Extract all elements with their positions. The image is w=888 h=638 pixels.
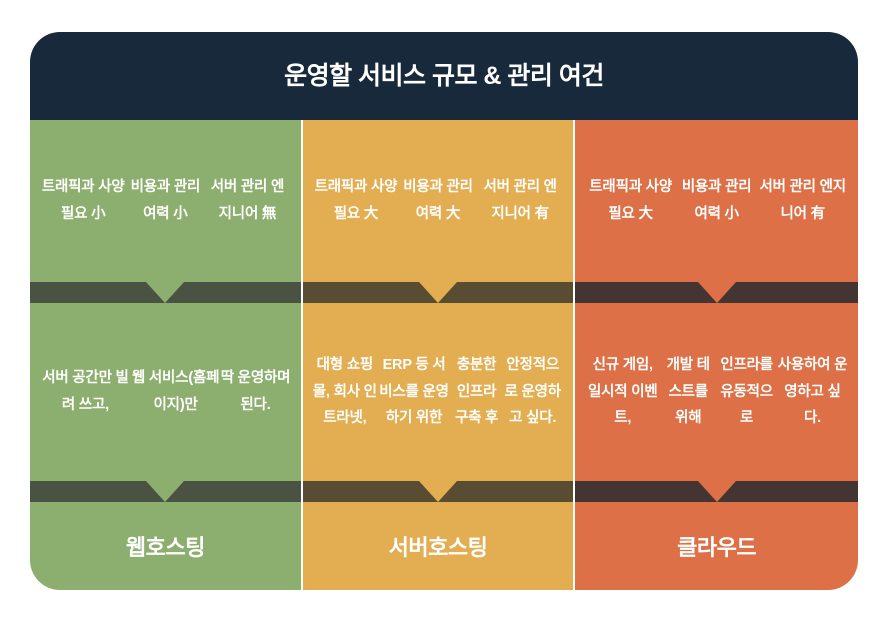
- result-label-web-hosting[interactable]: 웹호스팅: [30, 502, 301, 590]
- chevron-down-icon: [419, 481, 457, 502]
- column-web-hosting[interactable]: 트래픽과 사양 필요 小비용과 관리 여력 小서버 관리 엔지니어 無 서버 공…: [30, 120, 301, 590]
- criteria-cell-web-hosting: 트래픽과 사양 필요 小비용과 관리 여력 小서버 관리 엔지니어 無: [30, 120, 301, 282]
- criteria-cell-cloud: 트래픽과 사양 필요 大비용과 관리 여력 小서버 관리 엔지니어 有: [575, 120, 858, 282]
- arrow-band-criteria-server-hosting: [303, 282, 574, 303]
- column-cloud[interactable]: 트래픽과 사양 필요 大비용과 관리 여력 小서버 관리 엔지니어 有 신규 게…: [575, 120, 858, 590]
- column-server-hosting[interactable]: 트래픽과 사양 필요 大비용과 관리 여력 大서버 관리 엔지니어 有 대형 쇼…: [303, 120, 574, 590]
- description-cell-cloud: 신규 게임, 일시적 이벤트,개발 테스트를 위해인프라를 유동적으로사용하여 …: [575, 303, 858, 481]
- chevron-down-icon: [698, 481, 736, 502]
- arrow-band-criteria-web-hosting: [30, 282, 301, 303]
- comparison-columns: 트래픽과 사양 필요 小비용과 관리 여력 小서버 관리 엔지니어 無 서버 공…: [30, 120, 858, 590]
- result-label-cloud[interactable]: 클라우드: [575, 502, 858, 590]
- result-label-server-hosting[interactable]: 서버호스팅: [303, 502, 574, 590]
- chevron-down-icon: [419, 282, 457, 303]
- criteria-cell-server-hosting: 트래픽과 사양 필요 大비용과 관리 여력 大서버 관리 엔지니어 有: [303, 120, 574, 282]
- arrow-band-description-server-hosting: [303, 481, 574, 502]
- chevron-down-icon: [146, 282, 184, 303]
- card-header: 운영할 서비스 규모 & 관리 여건: [30, 32, 858, 120]
- description-cell-server-hosting: 대형 쇼핑몰, 회사 인트라넷,ERP 등 서비스를 운영하기 위한충분한 인프…: [303, 303, 574, 481]
- arrow-band-description-cloud: [575, 481, 858, 502]
- arrow-band-description-web-hosting: [30, 481, 301, 502]
- description-cell-web-hosting: 서버 공간만 빌려 쓰고,웹 서비스(홈페이지)만딱 운영하며 된다.: [30, 303, 301, 481]
- page-title: 운영할 서비스 규모 & 관리 여건: [284, 61, 604, 91]
- infographic-card: 운영할 서비스 규모 & 관리 여건 트래픽과 사양 필요 小비용과 관리 여력…: [30, 32, 858, 590]
- chevron-down-icon: [146, 481, 184, 502]
- chevron-down-icon: [698, 282, 736, 303]
- arrow-band-criteria-cloud: [575, 282, 858, 303]
